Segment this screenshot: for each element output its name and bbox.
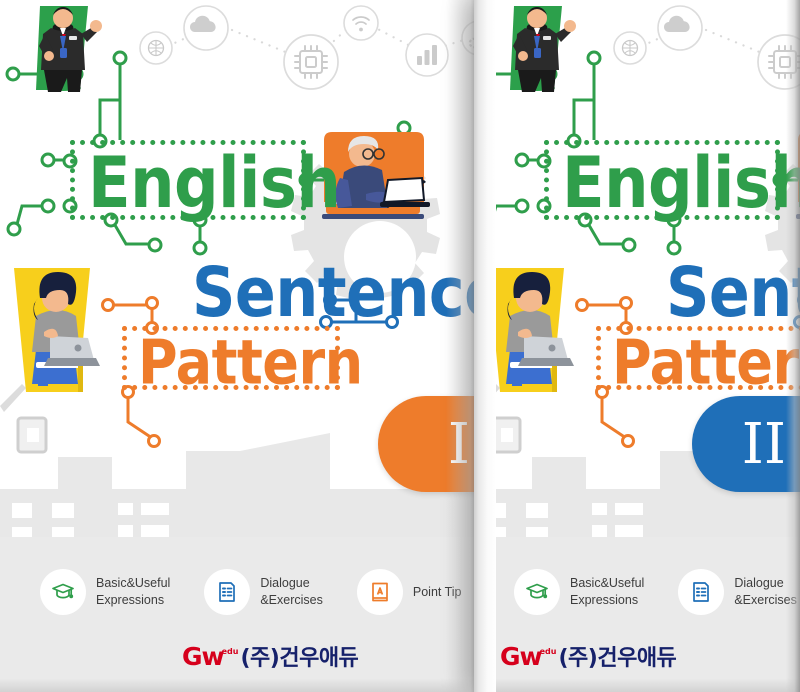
publisher-logo: Gw edu (주)건우애듀 (182, 644, 358, 670)
feature-row: Basic&Useful Expressions Dialogue (474, 564, 800, 620)
feature-label-dialogue-l1: Dialogue (260, 576, 309, 590)
feature-label-dialogue-l2: &Exercises (260, 593, 323, 607)
book-cover-pair: English Sentence Pattern B (0, 0, 800, 692)
title-word-english: English (88, 148, 340, 219)
cover-artwork: English Sentence Pattern B (0, 0, 480, 692)
logo-mark-gw: Gw (500, 644, 542, 669)
businessman-presenting-illustration (482, 0, 592, 104)
title-word-pattern: Pattern (138, 333, 363, 394)
logo-company-name: (주)건우애듀 (240, 648, 358, 670)
footer-bottom-shadow (474, 678, 800, 692)
graduation-cap-icon (514, 569, 560, 615)
book-a-icon (357, 569, 403, 615)
feature-label-basic: Basic&Useful Expressions (96, 575, 170, 609)
book-cover-volume-1[interactable]: English Sentence Pattern B (0, 0, 480, 692)
businessman-presenting-illustration (8, 0, 118, 104)
title-word-pattern: Pattern (612, 333, 800, 394)
title-word-english: English (562, 148, 800, 219)
cover-2-page-edge (474, 0, 496, 692)
woman-with-laptop-illustration (0, 254, 128, 454)
book-cover-volume-2[interactable]: English Sentence Pattern B (474, 0, 800, 692)
feature-label-dialogue-l1: Dialogue (734, 576, 783, 590)
cover-artwork: English Sentence Pattern B (474, 0, 800, 692)
feature-label-basic-l2: Expressions (570, 593, 638, 607)
feature-item-dialogue: Dialogue &Exercises (204, 569, 323, 615)
title-word-sentence: Sentence (666, 258, 800, 326)
feature-label-basic: Basic&Useful Expressions (570, 575, 644, 609)
logo-superscript-edu: edu (222, 647, 239, 656)
feature-label-dialogue: Dialogue &Exercises (260, 575, 323, 609)
feature-row: Basic&Useful Expressions Dialogue (0, 564, 480, 620)
checklist-document-icon (678, 569, 724, 615)
title-word-sentence: Sentence (192, 258, 480, 326)
feature-item-dialogue: Dialogue &Exercises (678, 569, 797, 615)
feature-item-basic: Basic&Useful Expressions (514, 569, 644, 615)
feature-item-basic: Basic&Useful Expressions (40, 569, 170, 615)
feature-label-basic-l1: Basic&Useful (96, 576, 170, 590)
feature-label-basic-l1: Basic&Useful (570, 576, 644, 590)
publisher-logo: Gw edu (주)건우애듀 (500, 644, 676, 670)
checklist-document-icon (204, 569, 250, 615)
volume-badge-2: II (692, 396, 800, 492)
cover-2-right-edge (786, 0, 800, 692)
logo-mark-gw: Gw (182, 644, 224, 669)
logo-superscript-edu: edu (540, 647, 557, 656)
feature-label-basic-l2: Expressions (96, 593, 164, 607)
logo-company-name: (주)건우애듀 (558, 648, 676, 670)
footer-bottom-shadow (0, 678, 480, 692)
graduation-cap-icon (40, 569, 86, 615)
